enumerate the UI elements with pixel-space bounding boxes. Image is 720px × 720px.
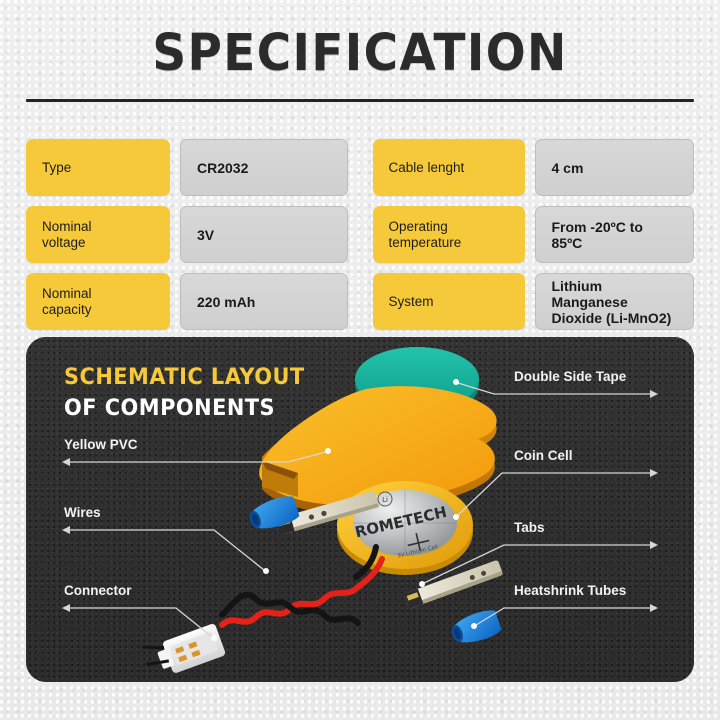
spec-value: 4 cm [535, 139, 695, 196]
spec-label: Nominal capacity [26, 273, 170, 330]
spec-value-text: 3V [197, 227, 214, 243]
callout-heatshrink-tubes: Heatshrink Tubes [514, 583, 626, 598]
callout-tabs: Tabs [514, 520, 545, 535]
spec-value: From -20ºC to 85ºC [535, 206, 695, 263]
spec-row: Nominal voltage 3V [26, 206, 348, 263]
title-divider [26, 99, 694, 102]
spec-row: System Lithium Manganese Dioxide (Li-MnO… [373, 273, 695, 330]
callout-coin-cell: Coin Cell [514, 448, 573, 463]
schematic-panel: SCHEMATIC LAYOUT OF COMPONENTS [26, 337, 694, 682]
spec-label-text: System [389, 294, 434, 310]
callout-yellow-pvc: Yellow PVC [64, 437, 138, 452]
spec-row: Type CR2032 [26, 139, 348, 196]
spec-column-right: Cable lenght 4 cm Operating temperature … [373, 139, 695, 330]
spec-row: Nominal capacity 220 mAh [26, 273, 348, 330]
spec-value-text: 220 mAh [197, 294, 255, 310]
spec-value: 220 mAh [180, 273, 348, 330]
spec-row: Cable lenght 4 cm [373, 139, 695, 196]
spec-label: System [373, 273, 525, 330]
spec-label: Nominal voltage [26, 206, 170, 263]
page-header: SPECIFICATION [26, 26, 694, 82]
spec-value: 3V [180, 206, 348, 263]
spec-label-text: Nominal capacity [42, 286, 92, 318]
spec-label-text: Cable lenght [389, 160, 465, 176]
spec-value: CR2032 [180, 139, 348, 196]
callout-leader-lines [26, 337, 694, 682]
specification-table: Type CR2032 Nominal voltage 3V Nominal c… [26, 139, 694, 330]
page-title: SPECIFICATION [53, 26, 668, 82]
spec-value: Lithium Manganese Dioxide (Li-MnO2) [535, 273, 695, 330]
spec-value-text: 4 cm [552, 160, 584, 176]
spec-label-text: Nominal voltage [42, 219, 92, 251]
callout-wires: Wires [64, 505, 101, 520]
spec-label: Operating temperature [373, 206, 525, 263]
spec-column-left: Type CR2032 Nominal voltage 3V Nominal c… [26, 139, 348, 330]
spec-label-text: Operating temperature [389, 219, 462, 251]
spec-label: Type [26, 139, 170, 196]
spec-value-text: Lithium Manganese Dioxide (Li-MnO2) [552, 278, 678, 326]
spec-label: Cable lenght [373, 139, 525, 196]
spec-row: Operating temperature From -20ºC to 85ºC [373, 206, 695, 263]
callout-connector: Connector [64, 583, 132, 598]
callout-double-side-tape: Double Side Tape [514, 369, 626, 384]
spec-value-text: From -20ºC to 85ºC [552, 219, 678, 251]
spec-value-text: CR2032 [197, 160, 248, 176]
spec-label-text: Type [42, 160, 71, 176]
